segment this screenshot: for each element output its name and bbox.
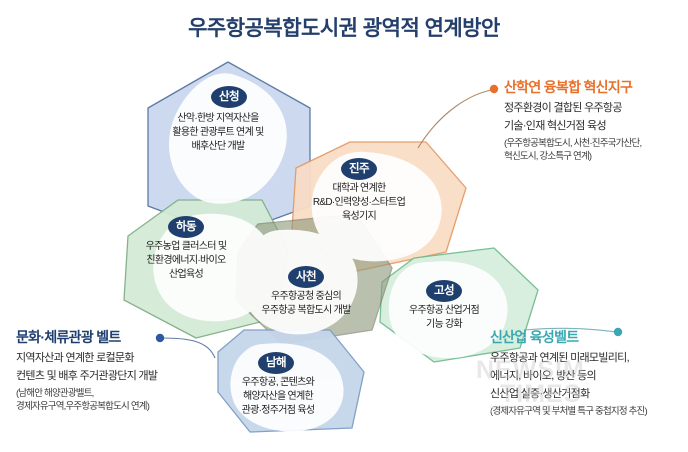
callout-body-line: 지역자산과 연계한 로컬문화 xyxy=(16,351,157,366)
callout-culture-tourism-belt: 문화·체류관광 벨트 지역자산과 연계한 로컬문화 컨텐츠 및 배후 주거관광단… xyxy=(16,328,157,413)
callout-title-new-industry-belt: 신산업 육성벨트 xyxy=(490,328,647,346)
region-desc-line: 우주항공청 중심의 xyxy=(234,290,378,304)
region-desc-line: 활용한 관광루트 연계 및 xyxy=(128,126,308,140)
callout-note-line: 경제자유구역,우주항공복합도시 연계) xyxy=(16,400,157,413)
region-description-sacheon: 우주항공청 중심의 우주항공 복합도시 개발 xyxy=(234,290,378,318)
connector-dot-innovation-district xyxy=(490,85,498,93)
callout-note-line: 혁신도시, 강소특구 연계) xyxy=(504,150,641,163)
callout-body-line: 기술·인재 혁신거점 육성 xyxy=(504,119,641,134)
region-desc-line: 친환경에너지·바이오 xyxy=(114,254,258,268)
region-desc-line: 우주항공 복합도시 개발 xyxy=(234,304,378,318)
region-badge-goseong[interactable]: 고성 xyxy=(426,280,462,302)
callout-body-line: 에너지, 바이오, 방산 등의 xyxy=(490,369,647,384)
region-desc-line: 우주항공 산업거점 xyxy=(376,304,512,318)
region-desc-line: 해양자산을 연계한 xyxy=(210,390,346,404)
callout-body-line: 우주항공과 연계된 미래모빌리티, xyxy=(490,351,647,366)
callout-title-innovation-district: 산학연 융복합 혁신지구 xyxy=(504,78,641,96)
callout-new-industry-belt: 신산업 육성벨트 우주항공과 연계된 미래모빌리티, 에너지, 바이오, 방산 … xyxy=(490,328,647,418)
region-desc-line: 우주농업 클러스터 및 xyxy=(114,240,258,254)
region-desc-line: R&D·인력양성·스타트업 xyxy=(288,196,430,210)
region-desc-line: 관광·정주거점 육성 xyxy=(210,404,346,418)
infographic-canvas: 우주항공복합도시권 광역적 연계방안 산청 산악·한방 지역자산을 활용한 관광… xyxy=(0,0,688,452)
region-badge-sancheong[interactable]: 산청 xyxy=(211,86,247,108)
region-badge-jinju[interactable]: 진주 xyxy=(341,158,377,180)
region-desc-line: 배후산단 개발 xyxy=(128,140,308,154)
region-desc-line: 우주항공, 콘텐츠와 xyxy=(210,376,346,390)
callout-note-line: (남해안 해양관광벨트, xyxy=(16,387,157,400)
callout-body-line: 신산업 실증·생산거점화 xyxy=(490,387,647,402)
connector-line-innovation-district xyxy=(418,90,492,148)
region-desc-line: 육성기지 xyxy=(288,210,430,224)
region-badge-hadong[interactable]: 하동 xyxy=(168,216,204,238)
region-description-namhae: 우주항공, 콘텐츠와 해양자산을 연계한 관광·정주거점 육성 xyxy=(210,376,346,418)
callout-title-culture-tourism-belt: 문화·체류관광 벨트 xyxy=(16,328,157,346)
region-badge-sacheon[interactable]: 사천 xyxy=(288,266,324,288)
page-title: 우주항공복합도시권 광역적 연계방안 xyxy=(0,12,688,42)
callout-note-line: (우주항공복합도시, 사천·진주국가산단, xyxy=(504,137,641,150)
region-description-sancheong: 산악·한방 지역자산을 활용한 관광루트 연계 및 배후산단 개발 xyxy=(128,112,308,154)
region-desc-line: 산업육성 xyxy=(114,268,258,282)
callout-body-line: 정주환경이 결합된 우주항공 xyxy=(504,101,641,116)
region-badge-namhae[interactable]: 남해 xyxy=(258,352,294,374)
region-desc-line: 산악·한방 지역자산을 xyxy=(128,112,308,126)
callout-innovation-district: 산학연 융복합 혁신지구 정주환경이 결합된 우주항공 기술·인재 혁신거점 육… xyxy=(504,78,641,163)
callout-body-line: 컨텐츠 및 배후 주거관광단지 개발 xyxy=(16,369,157,384)
region-description-hadong: 우주농업 클러스터 및 친환경에너지·바이오 산업육성 xyxy=(114,240,258,282)
region-desc-line: 대학과 연계한 xyxy=(288,182,430,196)
connector-line-culture-tourism-belt xyxy=(162,338,215,358)
callout-note-line: (경제자유구역 및 부처별 특구 중첩지정 추진) xyxy=(490,405,647,418)
region-description-jinju: 대학과 연계한 R&D·인력양성·스타트업 육성기지 xyxy=(288,182,430,224)
